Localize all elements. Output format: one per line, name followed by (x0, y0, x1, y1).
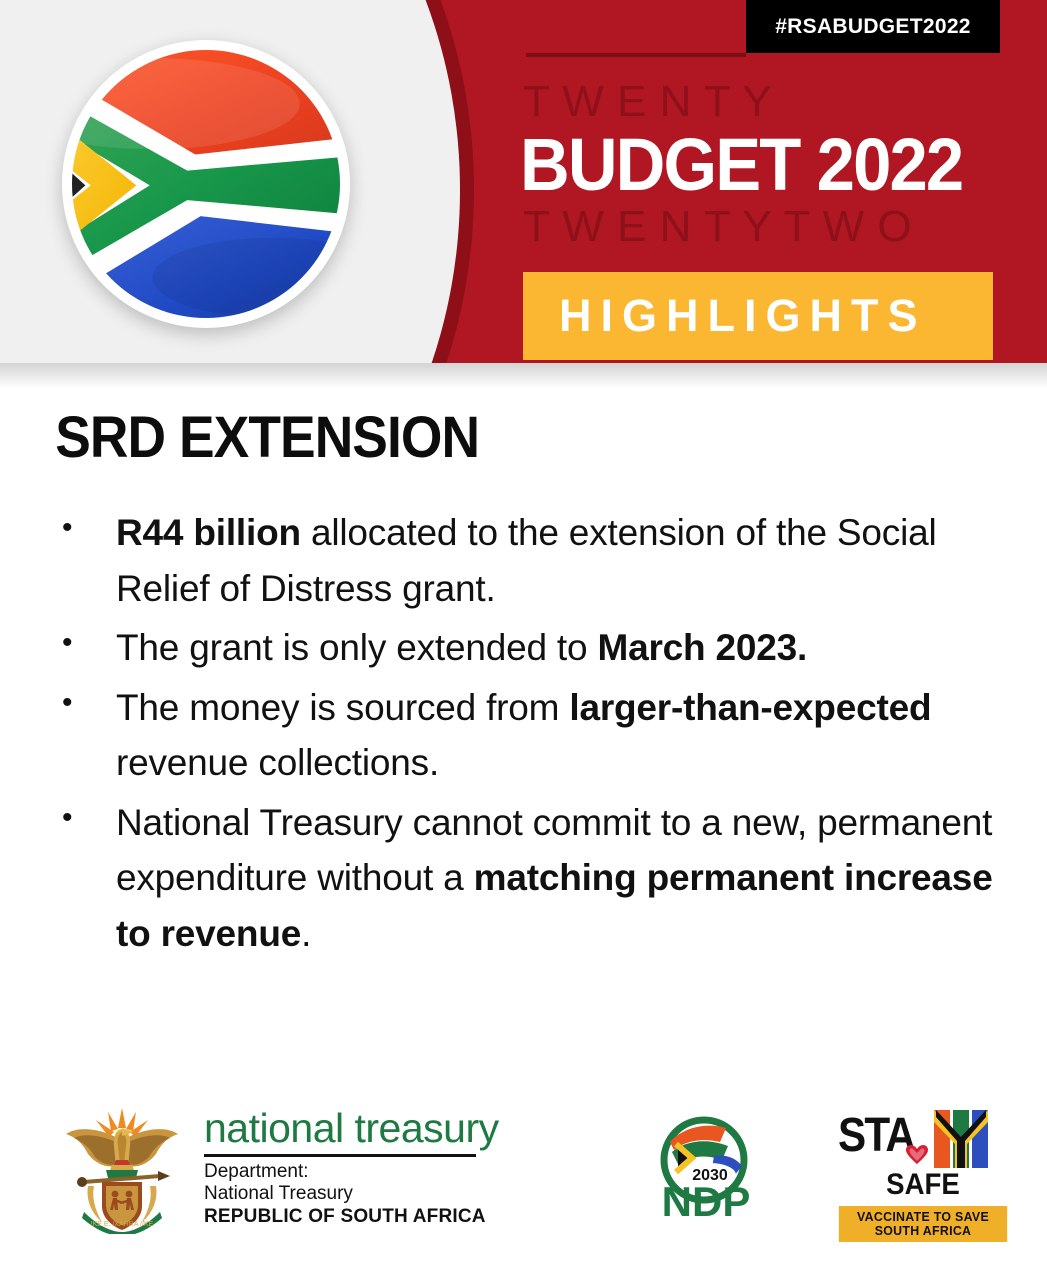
page-title: SRD EXTENSION (0, 389, 963, 471)
south-africa-coat-of-arms-icon: !KE E: /XARRA //KE (58, 1102, 186, 1234)
hashtag-tag: #RSABUDGET2022 (746, 0, 1000, 53)
ghost-text-twenty-two: T W E N T Y T W O (523, 205, 993, 249)
bullet-text: The money is sourced from (116, 687, 569, 728)
list-item: National Treasury cannot commit to a new… (48, 795, 1007, 962)
highlights-banner: HIGHLIGHTS (523, 272, 993, 360)
header-divider-rule (526, 53, 746, 57)
highlights-label: HIGHLIGHTS (523, 290, 927, 342)
department-line: Department: (204, 1161, 499, 1183)
department-name-line: National Treasury (204, 1183, 499, 1205)
national-treasury-title: national treasury (204, 1108, 499, 1149)
bullet-emphasis: March 2023. (597, 627, 807, 668)
national-treasury-logo: !KE E: /XARRA //KE national treasury Dep… (58, 1102, 499, 1234)
national-treasury-wordmark: national treasury Department: National T… (204, 1108, 499, 1228)
ndp-2030-logo-icon: 2030 NDP (648, 1112, 768, 1222)
list-item: The grant is only extended to March 2023… (48, 620, 1007, 676)
highlights-bullet-list: R44 billion allocated to the extension o… (0, 505, 1047, 961)
ndp-2030-logo: 2030 NDP (648, 1112, 768, 1222)
vaccinate-banner-label: VACCINATE TO SAVE SOUTH AFRICA (839, 1206, 1007, 1242)
header-shadow (0, 363, 1047, 389)
national-treasury-rule (204, 1154, 476, 1157)
republic-line: REPUBLIC OF SOUTH AFRICA (204, 1206, 499, 1228)
flag-letter-y-icon (934, 1110, 990, 1168)
safe-word-label: SAFE (845, 1170, 1001, 1200)
bullet-emphasis: R44 billion (116, 512, 301, 553)
ndp-acronym-label: NDP (662, 1178, 751, 1222)
ghost-text-twenty: T W E N T Y (523, 80, 993, 124)
page-title-budget-2022: BUDGET 2022 (520, 128, 965, 202)
bullet-emphasis: larger-than-expected (569, 687, 931, 728)
national-treasury-subtext: Department: National Treasury REPUBLIC O… (204, 1161, 499, 1228)
south-african-flag-badge (62, 40, 350, 328)
list-item: R44 billion allocated to the extension o… (48, 505, 1007, 616)
stay-safe-logo: STA SAFE VACCINATE TO SAVE SOUTH AFRICA (838, 1112, 1008, 1242)
heart-icon (906, 1145, 928, 1165)
stay-word-label: STA (838, 1112, 914, 1160)
stay-safe-top-row: STA (838, 1112, 1008, 1168)
main-content: SRD EXTENSION R44 billion allocated to t… (0, 389, 1047, 965)
hashtag-label: #RSABUDGET2022 (775, 15, 971, 39)
budget-highlights-poster: #RSABUDGET2022 T W E N T Y BUDGET 2022 T… (0, 0, 1047, 1280)
poster-footer: !KE E: /XARRA //KE national treasury Dep… (0, 1090, 1047, 1250)
bullet-text: . (301, 913, 311, 954)
list-item: The money is sourced from larger-than-ex… (48, 680, 1007, 791)
poster-header: #RSABUDGET2022 T W E N T Y BUDGET 2022 T… (0, 0, 1047, 363)
bullet-text: The grant is only extended to (116, 627, 597, 668)
south-african-flag-icon (72, 50, 340, 318)
svg-text:!KE E: /XARRA //KE: !KE E: /XARRA //KE (91, 1221, 154, 1228)
bullet-text: revenue collections. (116, 742, 439, 783)
